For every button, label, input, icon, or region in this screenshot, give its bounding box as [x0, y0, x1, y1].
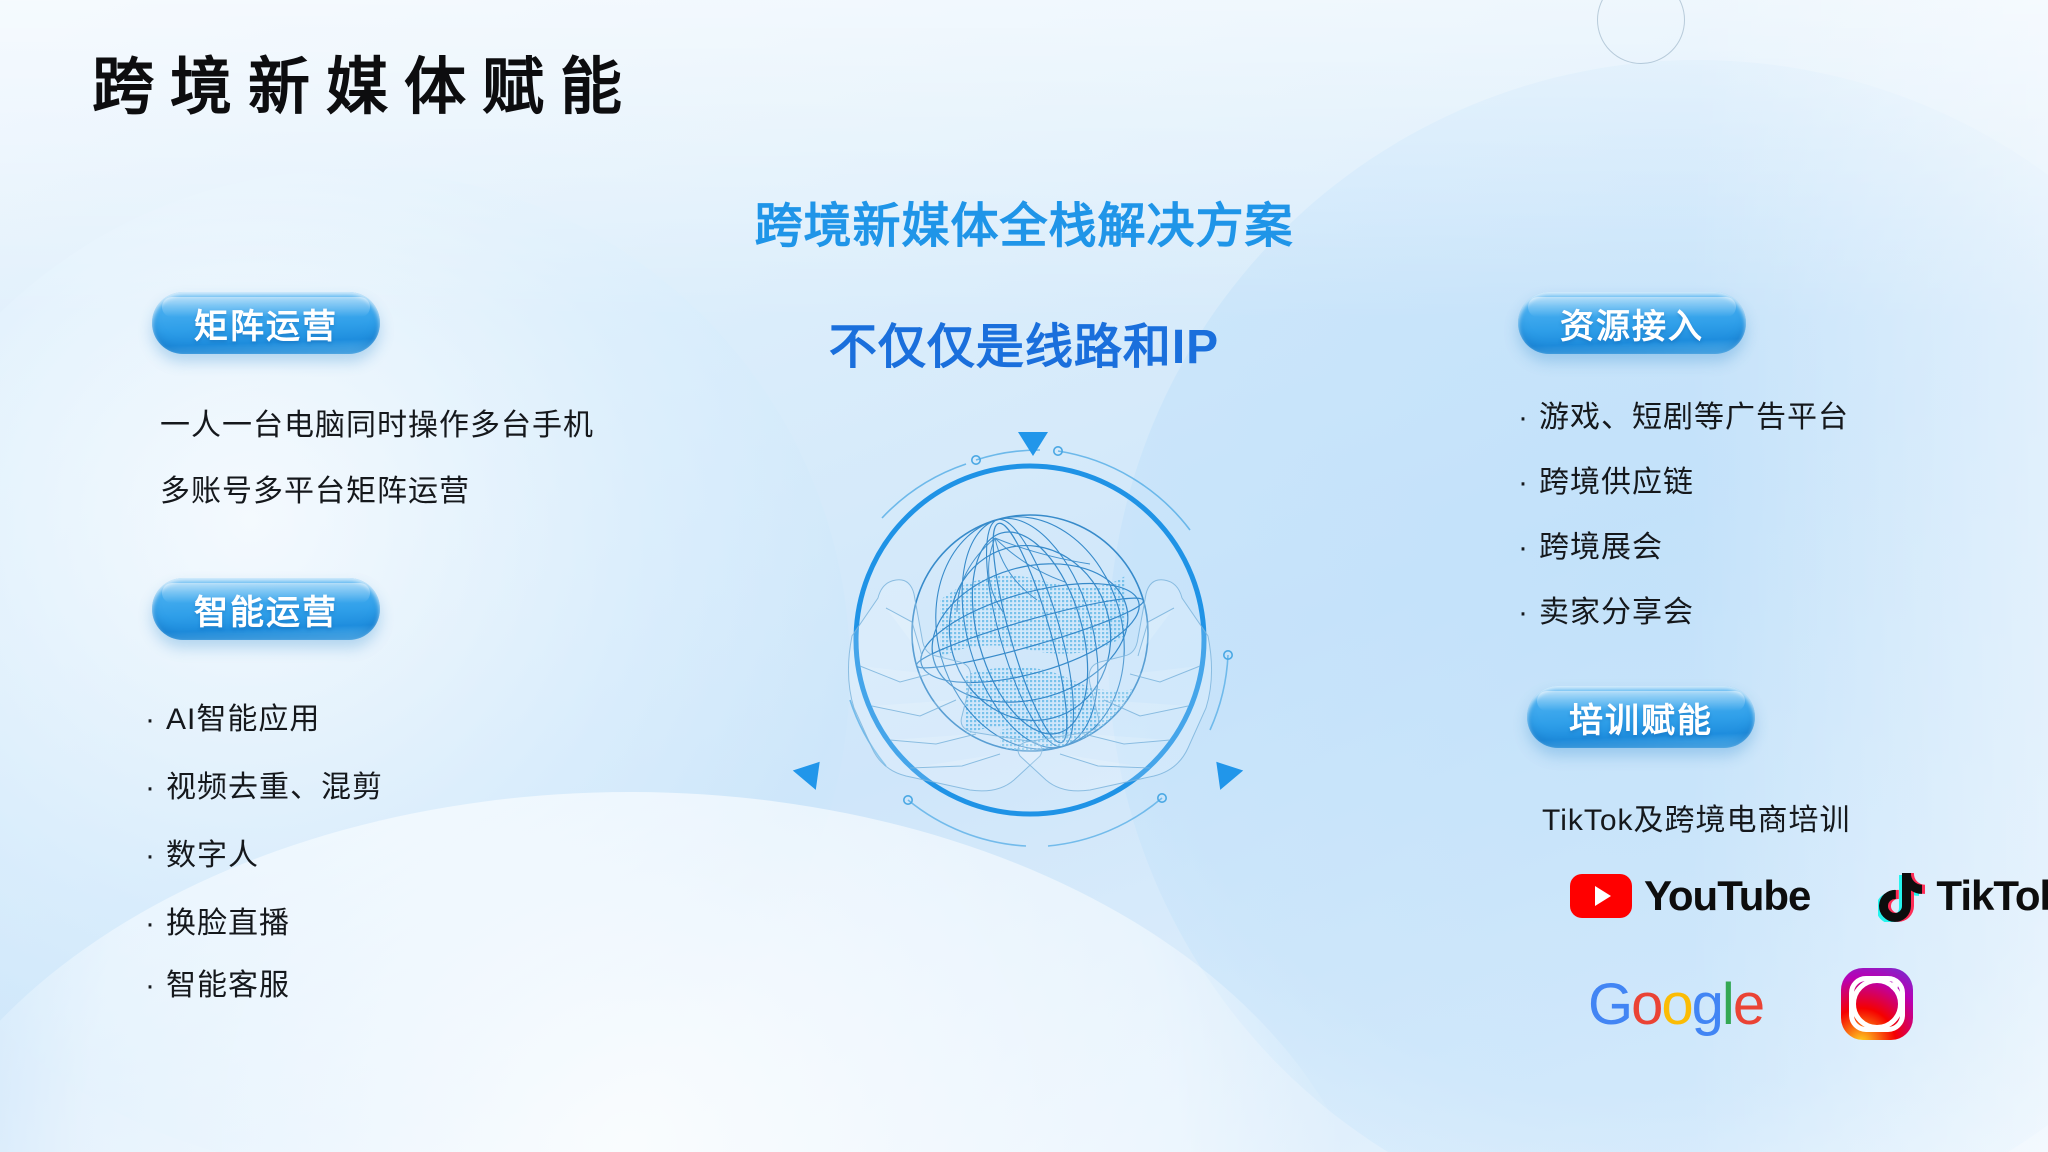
left-section1-line-1: 多账号多平台矩阵运营 [160, 466, 470, 510]
right-bullet-1-label: 跨境供应链 [1539, 466, 1694, 499]
youtube-logo-label: YouTube [1644, 872, 1810, 920]
headline-primary: 跨境新媒体全栈解决方案 [0, 186, 2048, 256]
page-title: 跨境新媒体赋能 [92, 36, 638, 126]
right-section2-line-0: TikTok及跨境电商培训 [1542, 795, 1851, 839]
youtube-logo[interactable]: YouTube [1570, 872, 1810, 920]
bullet-dot-icon: · [145, 839, 156, 872]
right-bullet-2-label: 跨境展会 [1539, 531, 1663, 564]
right-bullet-1: ·跨境供应链 [1518, 457, 1694, 501]
slide-root: 跨境新媒体赋能 跨境新媒体全栈解决方案 不仅仅是线路和IP [0, 0, 2048, 1152]
right-bullet-3: ·卖家分享会 [1518, 587, 1694, 631]
left-bullet-4: ·智能客服 [145, 960, 290, 1004]
platform-logo-row-2: Google [1588, 968, 1913, 1040]
tiktok-note-icon [1878, 870, 1926, 922]
play-triangle-icon [1595, 886, 1611, 906]
left-bullet-3-label: 换脸直播 [166, 907, 290, 940]
bullet-dot-icon: · [145, 969, 156, 1002]
badge-matrix-operations[interactable]: 矩阵运营 [152, 292, 380, 354]
google-logo[interactable]: Google [1588, 971, 1763, 1038]
bullet-dot-icon: · [1518, 466, 1529, 499]
badge-training-empowerment[interactable]: 培训赋能 [1527, 686, 1755, 748]
left-bullet-1: ·视频去重、混剪 [145, 762, 383, 806]
bullet-dot-icon: · [145, 771, 156, 804]
left-bullet-0: ·AI智能应用 [145, 694, 320, 738]
tiktok-logo-label: TikTok [1936, 872, 2048, 920]
bullet-dot-icon: · [1518, 401, 1529, 434]
left-bullet-1-label: 视频去重、混剪 [166, 771, 383, 804]
bullet-dot-icon: · [1518, 531, 1529, 564]
right-bullet-2: ·跨境展会 [1518, 522, 1663, 566]
bullet-dot-icon: · [1518, 596, 1529, 629]
badge-smart-operations[interactable]: 智能运营 [152, 578, 380, 640]
globe-in-hands-illustration [790, 400, 1270, 880]
right-bullet-0-label: 游戏、短剧等广告平台 [1539, 401, 1849, 434]
left-bullet-2-label: 数字人 [166, 839, 259, 872]
instagram-logo[interactable] [1841, 968, 1913, 1040]
platform-logo-row-1: YouTube TikTok [1570, 870, 2048, 922]
right-bullet-0: ·游戏、短剧等广告平台 [1518, 392, 1849, 436]
left-bullet-3: ·换脸直播 [145, 898, 290, 942]
left-bullet-4-label: 智能客服 [166, 969, 290, 1002]
left-section1-line-0: 一人一台电脑同时操作多台手机 [160, 400, 594, 444]
bullet-dot-icon: · [145, 907, 156, 940]
youtube-play-icon [1570, 874, 1632, 918]
decorative-circle-outline [1597, 0, 1685, 64]
globe-svg [790, 400, 1270, 880]
badge-resource-access[interactable]: 资源接入 [1518, 292, 1746, 354]
bullet-dot-icon: · [145, 703, 156, 736]
left-bullet-0-label: AI智能应用 [166, 703, 320, 736]
right-bullet-3-label: 卖家分享会 [1539, 596, 1694, 629]
left-bullet-2: ·数字人 [145, 830, 259, 874]
tiktok-logo[interactable]: TikTok [1878, 870, 2048, 922]
